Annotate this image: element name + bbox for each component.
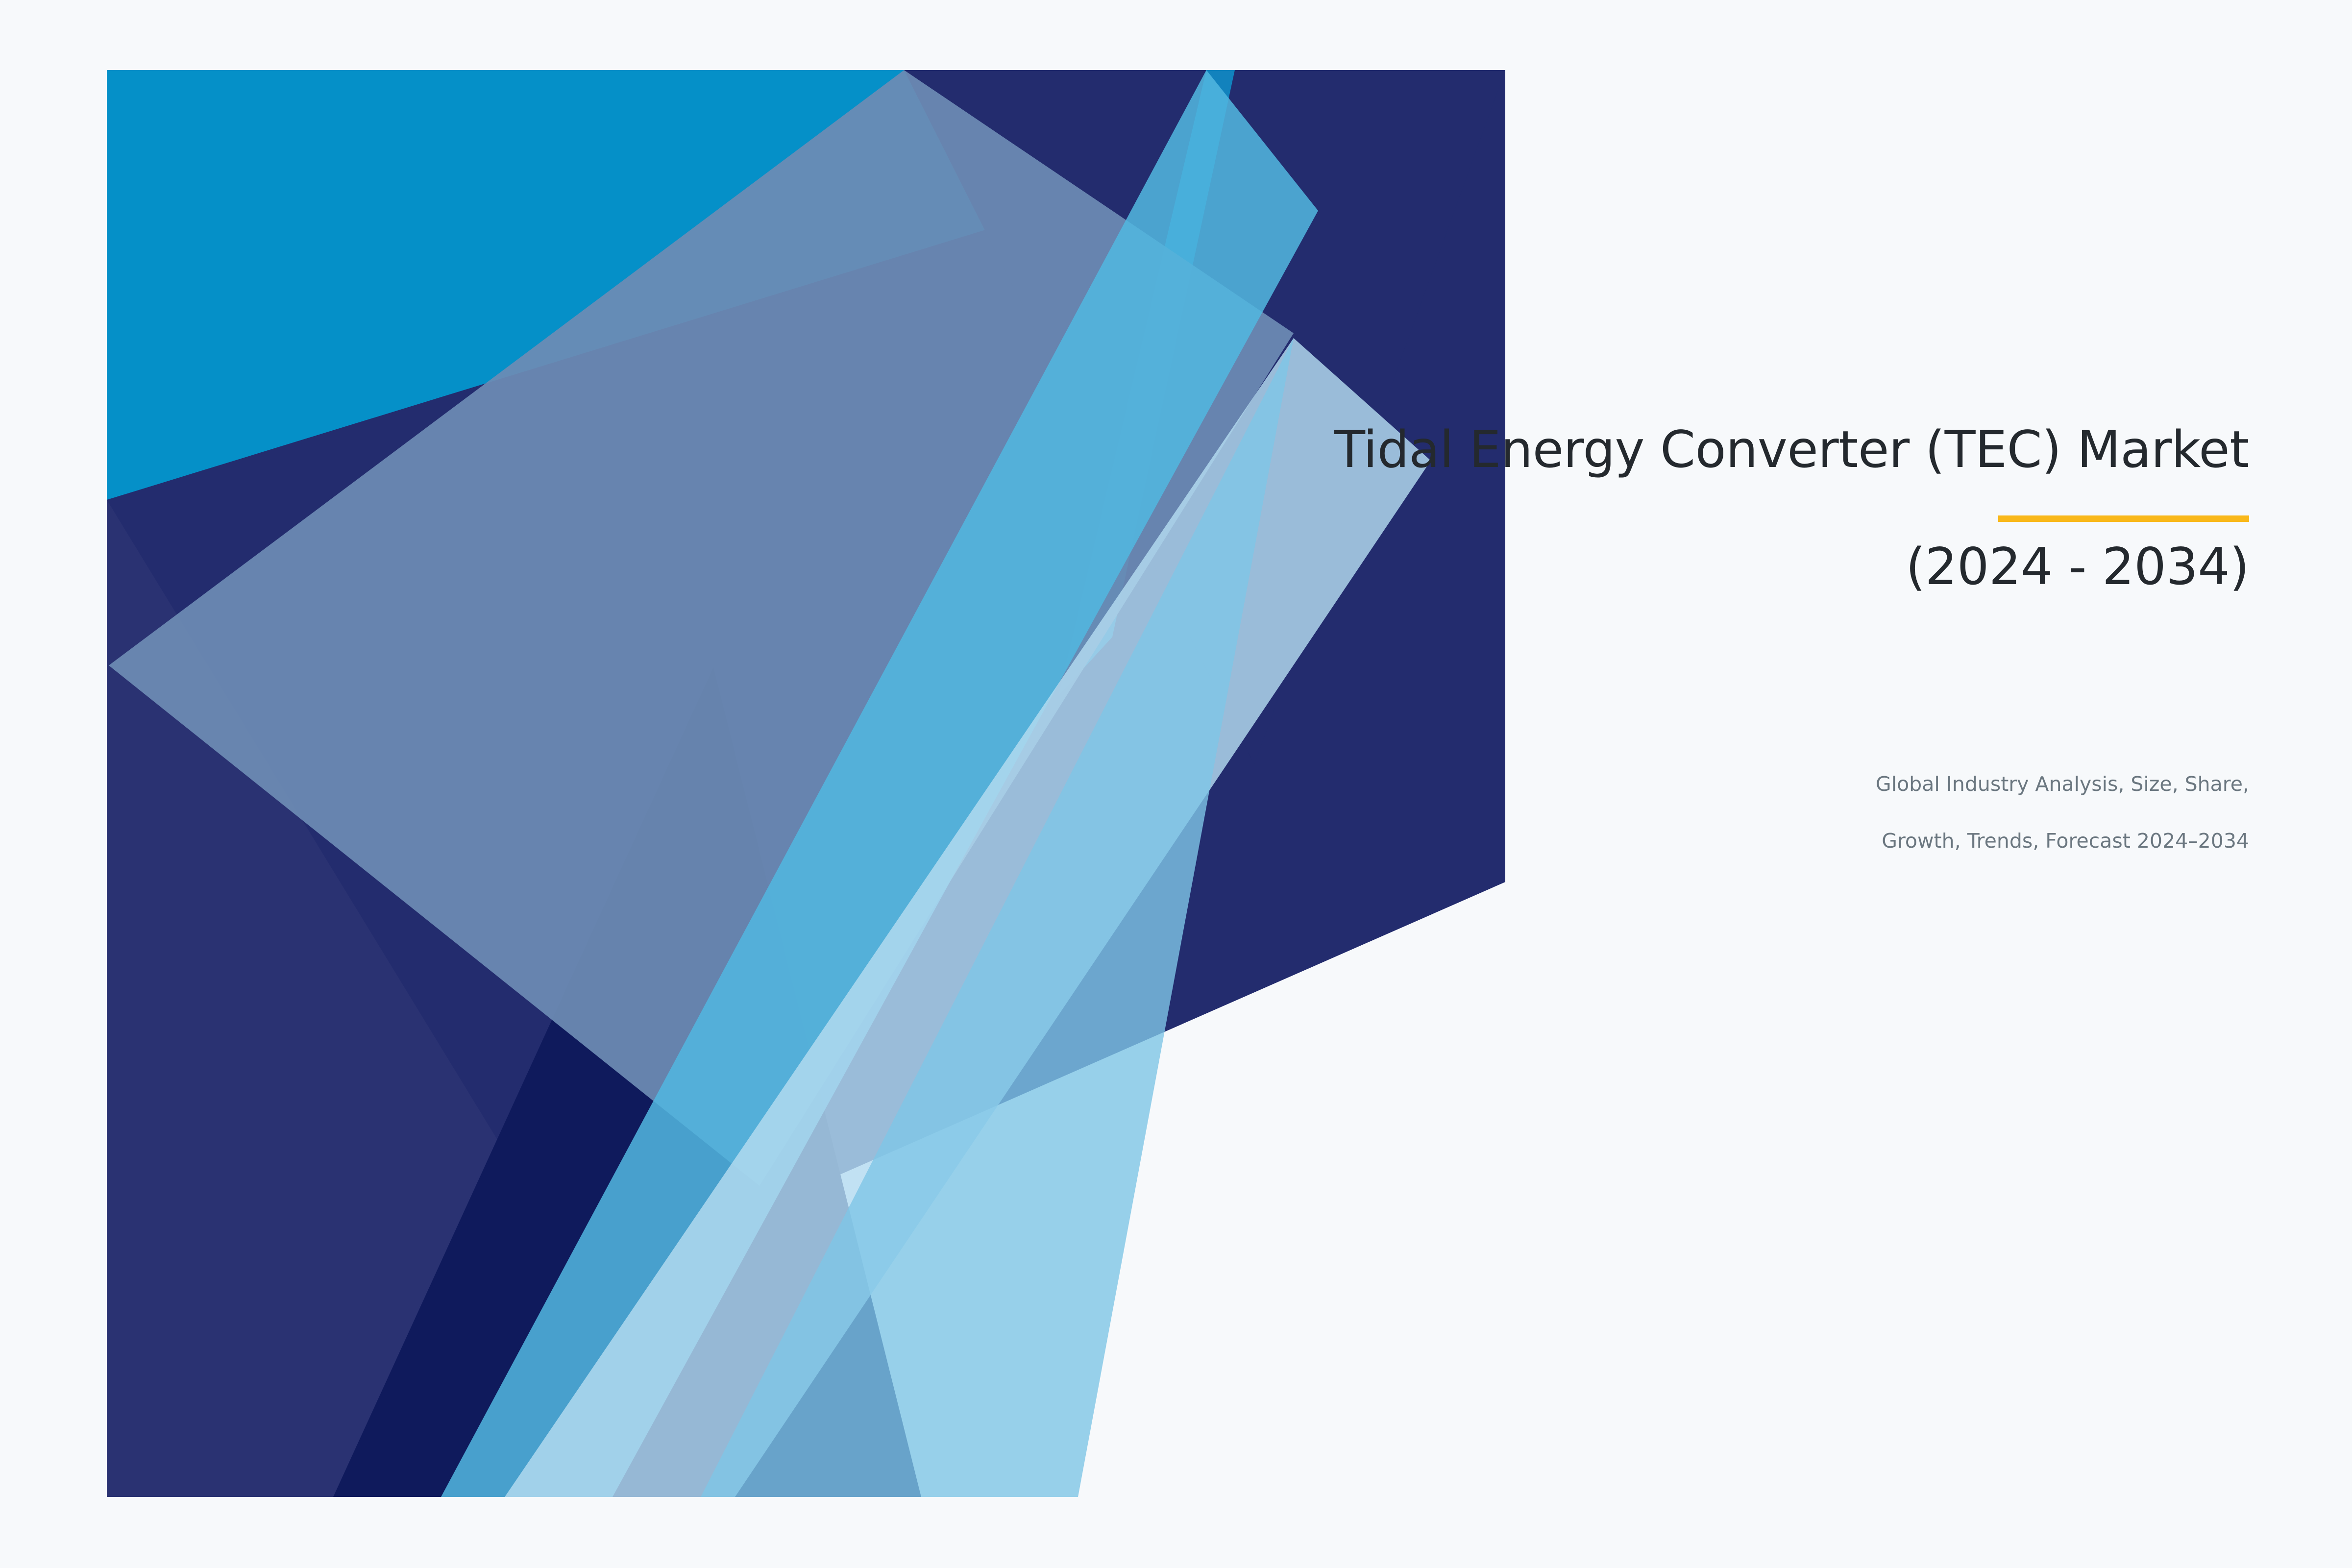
page-title: Tidal Energy Converter (TEC) Market (202…	[779, 363, 2249, 655]
page-subtitle-line-1: Global Industry Analysis, Size, Share,	[779, 770, 2249, 798]
title-accent-underline	[1998, 515, 2249, 522]
page-subtitle-line-2: Growth, Trends, Forecast 2024–2034	[779, 827, 2249, 855]
cover-text-block: Tidal Energy Converter (TEC) Market (202…	[779, 363, 2249, 883]
page-subtitle: Global Industry Analysis, Size, Share, G…	[779, 741, 2249, 883]
page-title-line-1: Tidal Energy Converter (TEC) Market	[779, 421, 2249, 479]
cover-page: Tidal Energy Converter (TEC) Market (202…	[0, 0, 2352, 1568]
page-title-line-2: (2024 - 2034)	[779, 538, 2249, 596]
shape-indigo-column	[107, 500, 715, 1497]
